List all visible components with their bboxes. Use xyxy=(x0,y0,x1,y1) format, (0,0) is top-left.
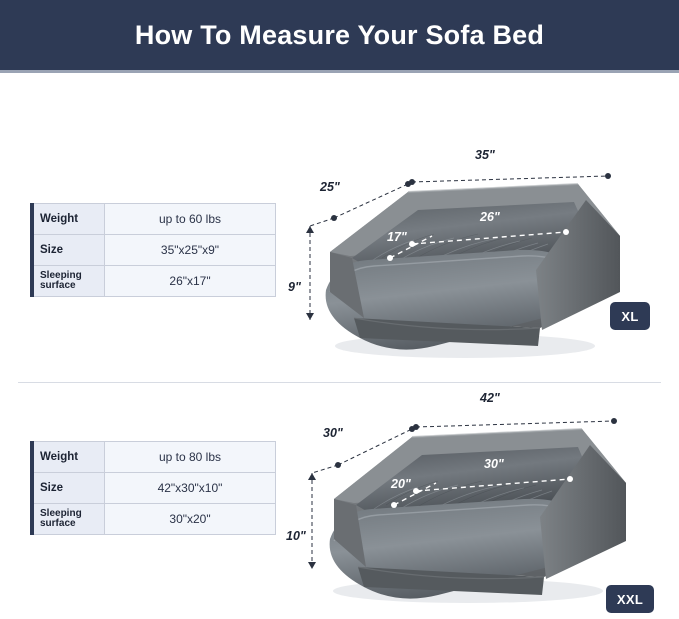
dimension-inner-width-xxl: 30" xyxy=(484,457,504,471)
row-value: 26"x17" xyxy=(105,266,275,296)
table-row: Weight up to 60 lbs xyxy=(31,204,275,235)
page-title: How To Measure Your Sofa Bed xyxy=(135,20,544,51)
row-value: up to 80 lbs xyxy=(105,442,275,472)
page-header: How To Measure Your Sofa Bed xyxy=(0,0,679,70)
table-row: Weight up to 80 lbs xyxy=(31,442,275,473)
spec-table-xl: Weight up to 60 lbs Size 35"x25"x9" Slee… xyxy=(30,203,276,297)
spec-table-xxl: Weight up to 80 lbs Size 42"x30"x10" Sle… xyxy=(30,441,276,535)
row-label: Size xyxy=(31,473,105,503)
row-label: Sleeping surface xyxy=(31,266,105,296)
row-label-line2: surface xyxy=(40,519,76,530)
row-label-line2: surface xyxy=(40,281,76,292)
infographic-page: How To Measure Your Sofa Bed Weight up t… xyxy=(0,0,679,619)
dimension-inner-width-xl: 26" xyxy=(480,210,500,224)
dimension-depth-xxl: 30" xyxy=(323,426,343,440)
row-value: 42"x30"x10" xyxy=(105,473,275,503)
spec-table-accent-bar xyxy=(30,441,34,535)
dimension-depth-xl: 25" xyxy=(320,180,340,194)
dimension-height-xxl: 10" xyxy=(286,529,306,543)
sofa-bed-xl-illustration xyxy=(290,140,660,370)
table-row: Sleeping surface 30"x20" xyxy=(31,504,275,534)
spec-table-accent-bar xyxy=(30,203,34,297)
product-image-xxl: 42" 30" 10" 30" 20" xyxy=(290,383,660,613)
row-label: Weight xyxy=(31,442,105,472)
row-value: 35"x25"x9" xyxy=(105,235,275,265)
table-row: Size 42"x30"x10" xyxy=(31,473,275,504)
size-badge-xxl: XXL xyxy=(606,585,654,613)
size-badge-xl: XL xyxy=(610,302,650,330)
table-row: Sleeping surface 26"x17" xyxy=(31,266,275,296)
product-image-xl: 35" 25" 9" 26" 17" xyxy=(290,140,660,370)
table-row: Size 35"x25"x9" xyxy=(31,235,275,266)
dimension-inner-depth-xxl: 20" xyxy=(391,477,411,491)
row-label: Sleeping surface xyxy=(31,504,105,534)
row-value: up to 60 lbs xyxy=(105,204,275,234)
header-underline xyxy=(0,70,679,73)
dimension-inner-depth-xl: 17" xyxy=(387,230,407,244)
dimension-width-xxl: 42" xyxy=(480,391,500,405)
sofa-bed-xxl-illustration xyxy=(290,383,660,613)
row-value: 30"x20" xyxy=(105,504,275,534)
dimension-width-xl: 35" xyxy=(475,148,495,162)
row-label: Weight xyxy=(31,204,105,234)
dimension-height-xl: 9" xyxy=(288,280,301,294)
row-label: Size xyxy=(31,235,105,265)
